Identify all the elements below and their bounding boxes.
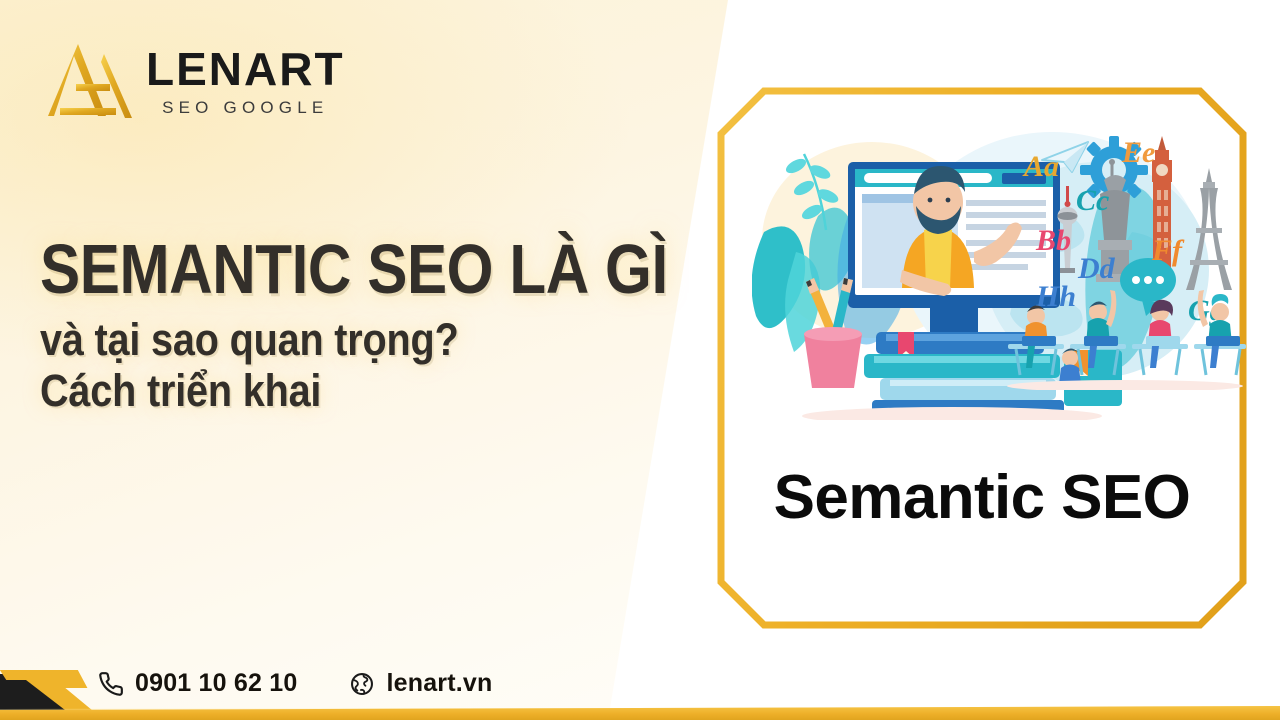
brand-tagline: SEO GOOGLE	[146, 99, 345, 116]
poster-canvas: LENART SEO GOOGLE SEMANTIC SEO LÀ GÌ và …	[0, 0, 1280, 720]
student-3	[1146, 300, 1180, 368]
student-2	[1084, 290, 1118, 368]
letters-landmarks-students: Aa Bb Cc Dd Ee Ff Gg Hh	[1000, 120, 1250, 390]
letter-Aa: Aa	[1022, 150, 1059, 183]
feature-wordmark: Semantic SEO	[716, 462, 1248, 533]
brand-wordmark: LENART SEO GOOGLE	[146, 46, 345, 116]
globe-icon	[349, 671, 375, 697]
student-1	[1022, 305, 1056, 368]
letter-Ff: Ff	[1151, 234, 1185, 267]
website-url: lenart.vn	[386, 669, 492, 698]
contact-website[interactable]: lenart.vn	[349, 669, 492, 698]
eiffel-tower	[1186, 168, 1232, 290]
letter-Cc: Cc	[1076, 184, 1109, 217]
headline-block: SEMANTIC SEO LÀ GÌ và tại sao quan trọng…	[40, 236, 630, 416]
letter-Bb: Bb	[1035, 224, 1071, 257]
brand-name: LENART	[146, 46, 345, 92]
brand-logo[interactable]: LENART SEO GOOGLE	[48, 38, 345, 124]
page-subtitle: và tại sao quan trọng? Cách triển khai	[40, 315, 559, 416]
letter-Ee: Ee	[1121, 136, 1155, 169]
lenart-monogram-icon	[48, 38, 132, 124]
letter-Dd: Dd	[1077, 252, 1116, 285]
page-title: SEMANTIC SEO LÀ GÌ	[40, 236, 547, 303]
corner-ornament	[0, 640, 200, 720]
